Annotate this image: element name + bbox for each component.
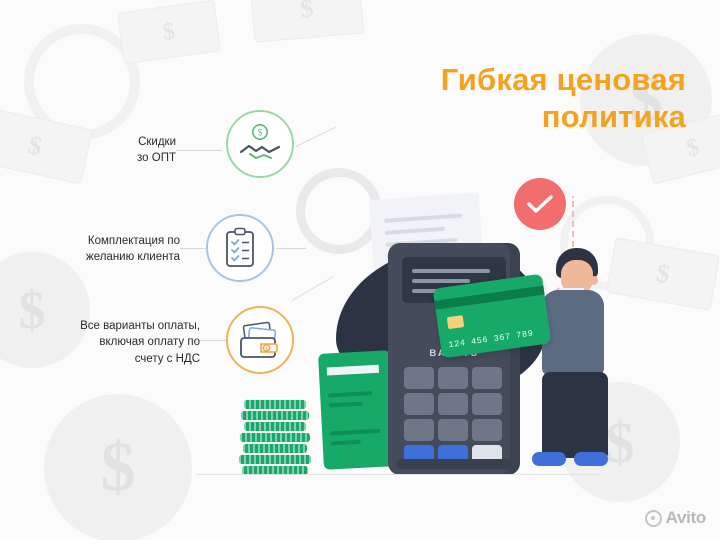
wallet-money-icon: $ [237, 320, 283, 360]
clipboard-checklist-icon-circle[interactable] [206, 214, 274, 282]
background-banknote: $ [250, 0, 365, 43]
dollar-glyph: $ [654, 258, 672, 290]
person-shoe [532, 452, 566, 466]
feature-configuration-label-line-1: Комплектация по [32, 233, 180, 249]
feature-discounts-label-line-2: зо ОПТ [58, 150, 176, 166]
avito-logo-icon [645, 510, 662, 527]
feature-payment-options-label-line-1: Все варианты оплаты, [22, 318, 200, 334]
check-icon [527, 194, 553, 214]
clipboard-checklist-icon [223, 227, 257, 269]
promo-banner: $ $ $ $ $ $ $ $ $ Гибкая ценовая политик… [0, 0, 720, 540]
ground-line [196, 474, 600, 475]
payment-terminal: BANSYS [388, 243, 520, 475]
svg-text:$: $ [258, 128, 263, 138]
card-chip [447, 315, 465, 329]
feature-discounts-label-line-1: Скидки [58, 134, 176, 150]
person-legs [542, 372, 608, 458]
keypad-key[interactable] [438, 419, 468, 441]
background-banknote: $ [117, 0, 221, 65]
keypad-key[interactable] [404, 393, 434, 415]
keypad-key[interactable] [404, 419, 434, 441]
svg-text:$: $ [265, 346, 268, 353]
watermark: Avito [645, 508, 706, 528]
connector-line [176, 150, 222, 151]
card-magnetic-stripe [327, 365, 379, 376]
keypad-key[interactable] [472, 367, 502, 389]
person-ear [590, 276, 598, 285]
dollar-glyph: $ [299, 0, 315, 25]
feature-discounts-label: Скидки зо ОПТ [58, 134, 176, 167]
feature-payment-options-label-line-2: включая оплату по [22, 334, 200, 350]
background-coin: $ [44, 394, 192, 540]
keypad-key[interactable] [472, 393, 502, 415]
page-title: Гибкая ценовая политика [266, 62, 686, 135]
title-line-1: Гибкая ценовая [441, 62, 686, 97]
keypad-key[interactable] [438, 393, 468, 415]
person-shoe [574, 452, 608, 466]
feature-configuration-label: Комплектация по желанию клиента [32, 233, 180, 266]
dollar-glyph: $ [161, 18, 177, 46]
watermark-text: Avito [666, 508, 706, 528]
dollar-glyph: $ [684, 133, 702, 162]
keypad-key[interactable] [404, 367, 434, 389]
handshake-icon: $ [238, 124, 282, 164]
card-magnetic-stripe [434, 286, 544, 310]
feature-payment-options-label-line-3: счету с НДС [22, 351, 200, 367]
dollar-glyph: $ [44, 394, 192, 540]
connector-line [276, 248, 306, 249]
handshake-icon-circle[interactable]: $ [226, 110, 294, 178]
keypad-key[interactable] [438, 367, 468, 389]
feature-configuration-label-line-2: желанию клиента [32, 249, 180, 265]
check-badge [514, 178, 566, 230]
standing-bank-card [318, 350, 396, 470]
coin-stack [238, 400, 312, 477]
terminal-keypad[interactable] [404, 367, 504, 467]
wallet-money-icon-circle[interactable]: $ [226, 306, 294, 374]
feature-payment-options-label: Все варианты оплаты, включая оплату по с… [22, 318, 200, 367]
terminal-base [396, 459, 512, 469]
keypad-key[interactable] [472, 419, 502, 441]
dollar-glyph: $ [26, 130, 45, 162]
connector-line [292, 276, 334, 301]
